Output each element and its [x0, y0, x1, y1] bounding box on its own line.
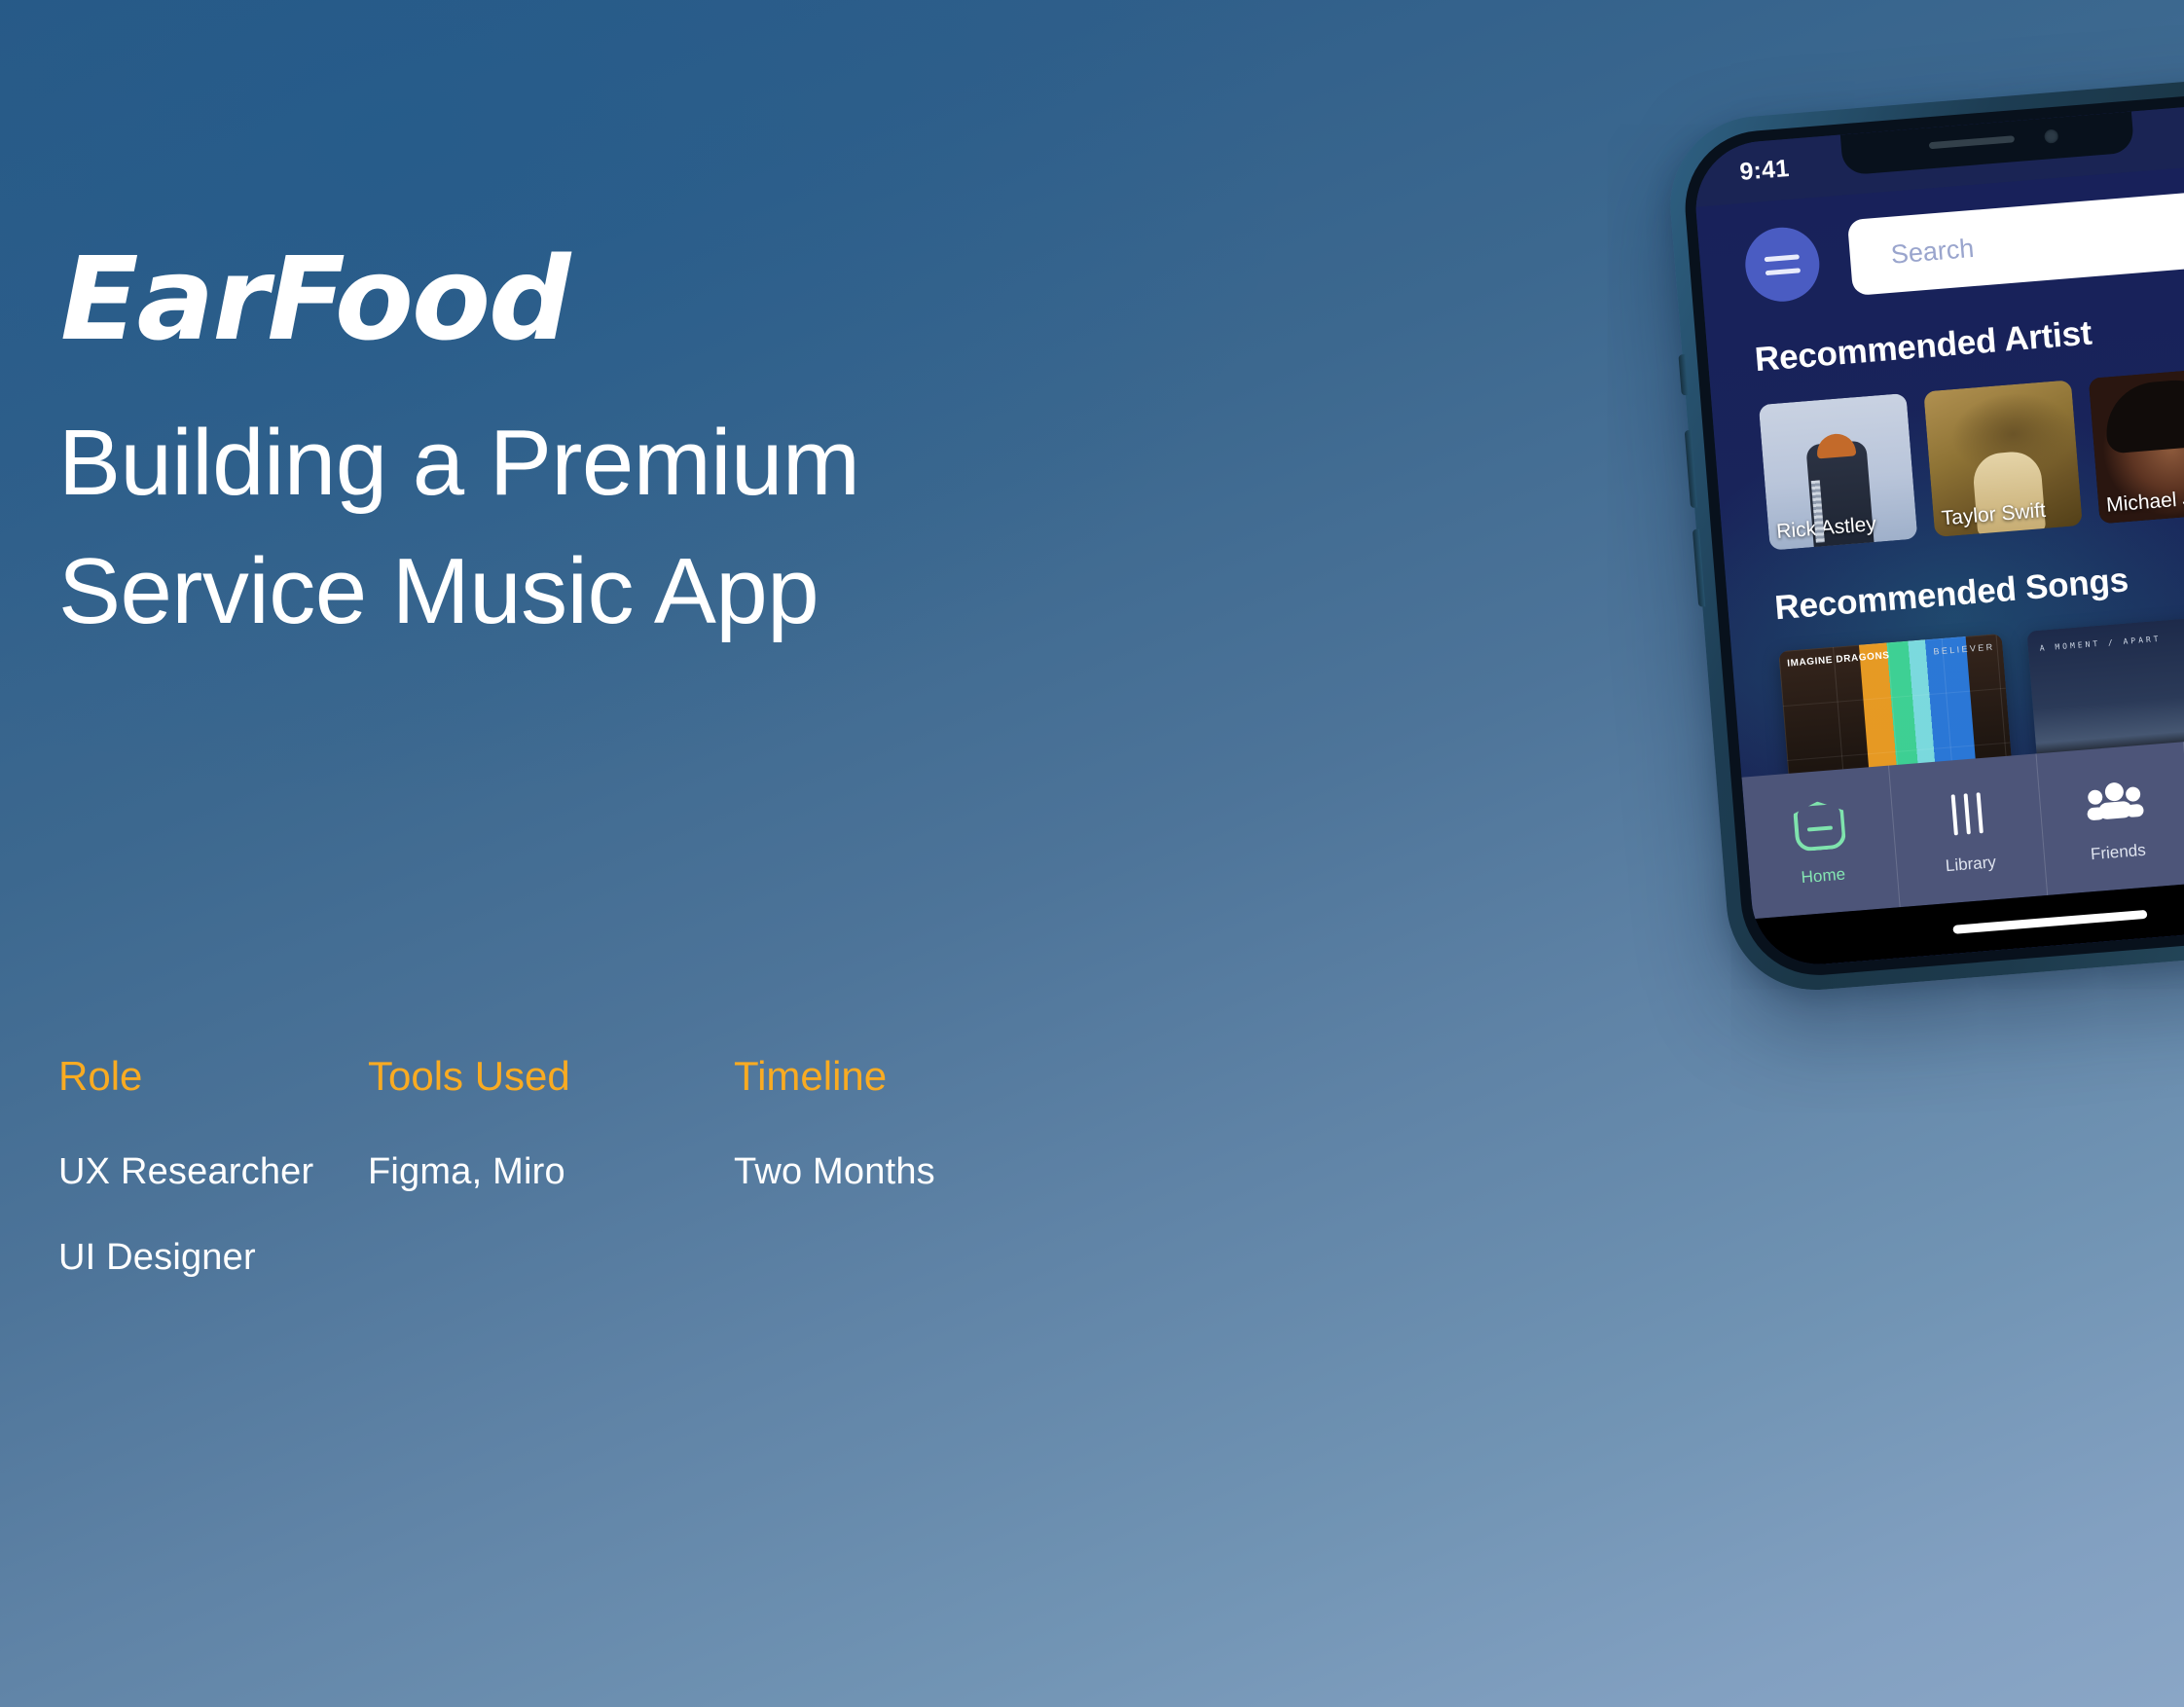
meta-column-role: Role UX Researcher UI Designer [58, 1056, 368, 1325]
left-content-panel: EarFood Building a Premium Service Music… [0, 0, 1168, 1707]
search-placeholder: Search [1890, 233, 1976, 270]
front-camera-icon [2044, 129, 2058, 144]
app-top-bar: Search [1697, 181, 2184, 317]
tab-label-friends: Friends [2090, 841, 2146, 864]
home-indicator[interactable] [1952, 910, 2147, 934]
earpiece-speaker [1929, 135, 2015, 149]
meta-value-role-2: UI Designer [58, 1239, 368, 1276]
search-input[interactable]: Search [1847, 182, 2184, 296]
meta-label-role: Role [58, 1056, 368, 1097]
tab-friends[interactable]: Friends [2036, 742, 2184, 895]
artist-card-rick-astley[interactable]: Rick Astley [1759, 393, 1918, 551]
meta-column-timeline: Timeline Two Months [734, 1056, 1084, 1325]
section-title-recommended-artist: Recommended Artist [1754, 314, 2093, 381]
tab-label-library: Library [1945, 853, 1996, 876]
meta-column-tools: Tools Used Figma, Miro [368, 1056, 734, 1325]
phone-bezel: 9:41 Search Recommended Artist [1679, 88, 2184, 981]
home-icon [1792, 797, 1846, 855]
tab-label-home: Home [1801, 865, 1846, 889]
meta-value-role-1: UX Researcher [58, 1153, 368, 1190]
project-meta: Role UX Researcher UI Designer Tools Use… [58, 1056, 1090, 1325]
section-title-recommended-songs: Recommended Songs [1773, 561, 2129, 628]
headline-line-1: Building a Premium [58, 399, 1090, 527]
friends-icon [2084, 773, 2144, 831]
status-time: 9:41 [1738, 155, 1790, 187]
brand-title: EarFood [60, 241, 568, 356]
phone-screen: 9:41 Search Recommended Artist [1691, 99, 2184, 969]
tab-library[interactable]: Library [1889, 753, 2048, 907]
meta-value-tools-1: Figma, Miro [368, 1153, 734, 1190]
phone-mockup: 9:41 Search Recommended Artist [1663, 72, 2184, 997]
library-icon [1950, 785, 1984, 842]
hamburger-menu-icon[interactable] [1742, 225, 1822, 305]
artist-card-michael-jackson[interactable]: Michael Jackson [2089, 367, 2184, 525]
meta-label-timeline: Timeline [734, 1056, 1084, 1097]
recommended-artist-list[interactable]: Rick Astley Taylor Swift Michael Jackson [1759, 352, 2184, 551]
meta-value-timeline-1: Two Months [734, 1153, 1084, 1190]
page-title: Building a Premium Service Music App [58, 399, 1090, 657]
meta-label-tools: Tools Used [368, 1056, 734, 1097]
artist-card-taylor-swift[interactable]: Taylor Swift [1923, 380, 2083, 537]
tab-home[interactable]: Home [1741, 766, 1900, 920]
headline-line-2: Service Music App [58, 527, 1090, 656]
album-art-album-text: A MOMENT / APART [2039, 633, 2162, 655]
music-app-screen: Search Recommended Artist Rick Astley Ta… [1695, 160, 2184, 969]
